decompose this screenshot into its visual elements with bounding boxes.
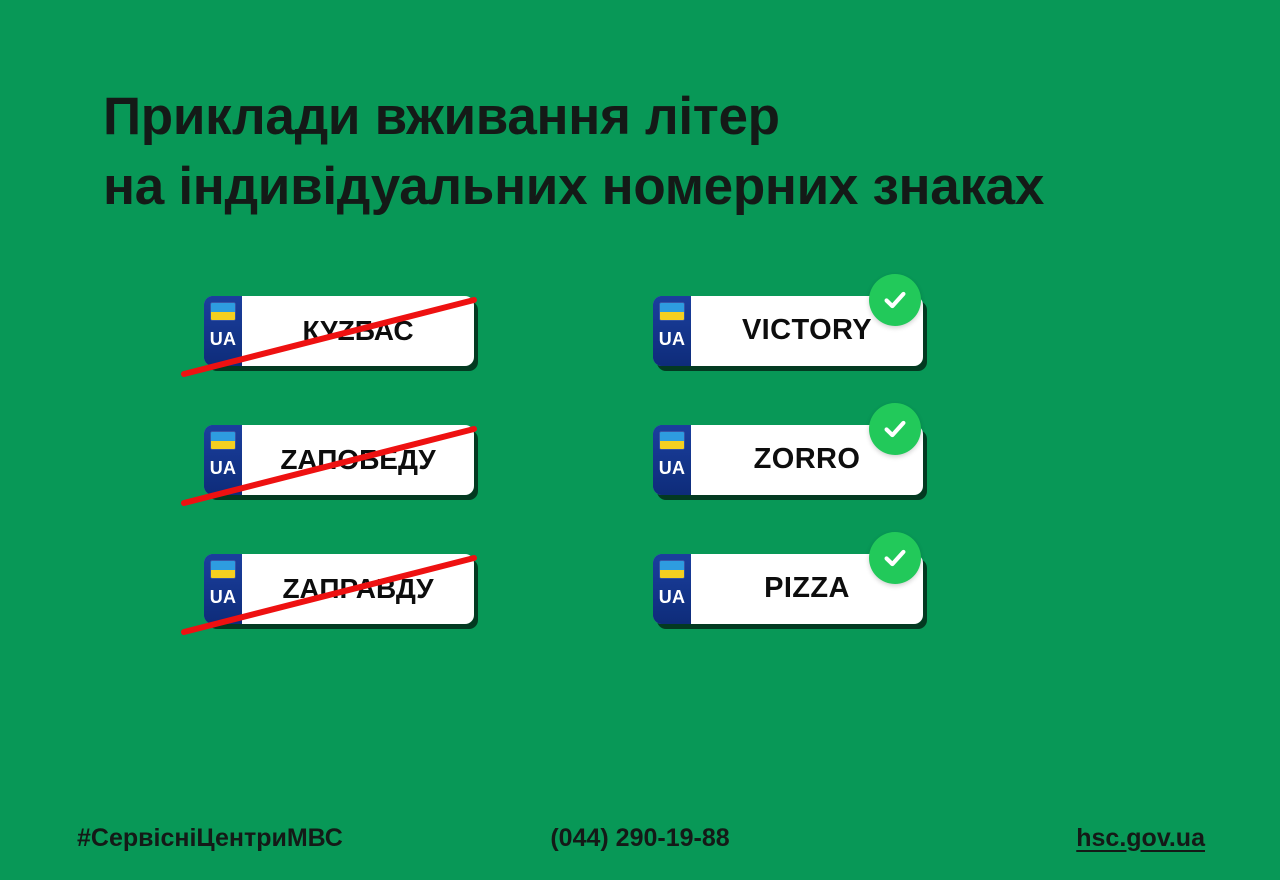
ukraine-flag-icon — [660, 303, 684, 320]
footer-phone[interactable]: (044) 290-19-88 — [550, 824, 729, 853]
plate-text: VICTORY — [742, 314, 872, 347]
plate-cell-allowed-2: UA ZORRO — [640, 425, 1088, 511]
ukraine-flag-icon — [211, 432, 235, 449]
page-title: Приклади вживання літер на індивідуальни… — [103, 82, 1163, 222]
plate-cell-forbidden-3: UA ZАПРАВДУ — [192, 554, 640, 640]
plate-text-area: КУZБАС — [242, 296, 474, 366]
plate-country-band: UA — [653, 554, 691, 624]
license-plate-forbidden-3[interactable]: UA ZАПРАВДУ — [204, 554, 474, 624]
country-code-label: UA — [659, 588, 685, 606]
footer-website-link[interactable]: hsc.gov.ua — [1076, 824, 1205, 853]
ukraine-flag-icon — [211, 303, 235, 320]
country-code-label: UA — [210, 459, 236, 477]
license-plate-forbidden-2[interactable]: UA ZАПОБЕДУ — [204, 425, 474, 495]
plate-text-area: ZАПОБЕДУ — [242, 425, 474, 495]
plate-text: ZАПОБЕДУ — [280, 444, 435, 476]
country-code-label: UA — [210, 330, 236, 348]
plate-text: ZАПРАВДУ — [282, 573, 433, 605]
plate-text: КУZБАС — [302, 315, 413, 347]
plate-country-band: UA — [653, 296, 691, 366]
footer-hashtag: #СервісніЦентриМВС — [77, 824, 343, 853]
green-check-icon — [869, 274, 921, 326]
plates-grid: UA КУZБАС UA VICTORY — [0, 296, 1280, 640]
plate-cell-allowed-3: UA PIZZA — [640, 554, 1088, 640]
plate-text-area: ZАПРАВДУ — [242, 554, 474, 624]
plate-country-band: UA — [204, 425, 242, 495]
plate-cell-forbidden-2: UA ZАПОБЕДУ — [192, 425, 640, 511]
green-check-icon — [869, 532, 921, 584]
plate-country-band: UA — [204, 554, 242, 624]
footer: #СервісніЦентриМВС (044) 290-19-88 hsc.g… — [0, 796, 1280, 880]
plate-cell-allowed-1: UA VICTORY — [640, 296, 1088, 382]
country-code-label: UA — [659, 330, 685, 348]
page-title-line-1: Приклади вживання літер — [103, 82, 1163, 152]
plate-cell-forbidden-1: UA КУZБАС — [192, 296, 640, 382]
country-code-label: UA — [659, 459, 685, 477]
country-code-label: UA — [210, 588, 236, 606]
ukraine-flag-icon — [211, 561, 235, 578]
ukraine-flag-icon — [660, 561, 684, 578]
page-title-line-2: на індивідуальних номерних знаках — [103, 152, 1163, 222]
plate-country-band: UA — [653, 425, 691, 495]
plate-text: ZORRO — [754, 443, 861, 476]
green-check-icon — [869, 403, 921, 455]
plate-country-band: UA — [204, 296, 242, 366]
poster-canvas: Приклади вживання літер на індивідуальни… — [0, 0, 1280, 880]
license-plate-forbidden-1[interactable]: UA КУZБАС — [204, 296, 474, 366]
plate-text: PIZZA — [764, 572, 850, 605]
ukraine-flag-icon — [660, 432, 684, 449]
